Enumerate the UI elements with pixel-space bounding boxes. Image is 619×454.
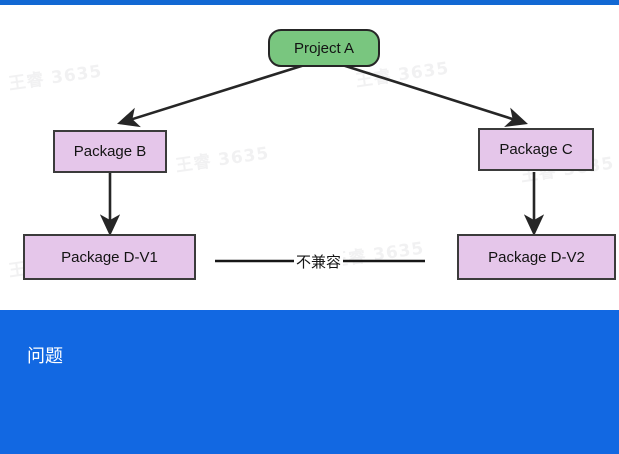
node-label: Package D-V2 — [488, 249, 585, 266]
panel-heading: 问题 — [27, 342, 63, 368]
edge-project-a-to-package-c — [336, 63, 525, 123]
dependency-diagram: 王睿 3635 王睿 3635 王睿 3635 王睿 3635 王睿 3635 … — [0, 5, 619, 310]
node-project-a[interactable]: Project A — [268, 29, 380, 67]
node-label: Package C — [499, 141, 572, 158]
node-label: Package D-V1 — [61, 249, 158, 266]
incompatible-edge-label: 不兼容 — [294, 251, 343, 272]
problems-panel: 问题 无法控制依赖的版本。 更新项目又可能出现依赖冲突，导致编译出错。 @稀土掘… — [0, 310, 619, 454]
node-label: Project A — [294, 40, 354, 57]
node-package-d-v1[interactable]: Package D-V1 — [23, 234, 196, 280]
edge-project-a-to-package-b — [120, 63, 311, 123]
node-package-c[interactable]: Package C — [478, 128, 594, 171]
node-package-b[interactable]: Package B — [53, 130, 167, 173]
page-root: 王睿 3635 王睿 3635 王睿 3635 王睿 3635 王睿 3635 … — [0, 0, 619, 454]
node-label: Package B — [74, 143, 147, 160]
node-package-d-v2[interactable]: Package D-V2 — [457, 234, 616, 280]
